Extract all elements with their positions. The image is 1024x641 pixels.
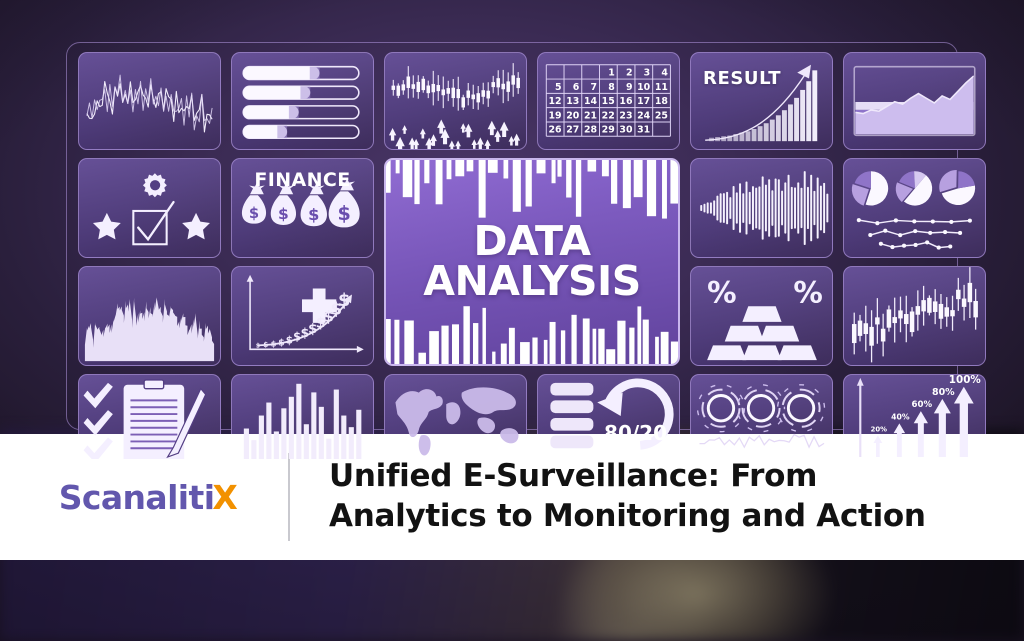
svg-text:31: 31 xyxy=(637,125,650,136)
svg-text:23: 23 xyxy=(619,110,632,121)
svg-text:16: 16 xyxy=(619,96,633,107)
hero-title-line2: ANALYSIS xyxy=(423,262,641,302)
revenue-growth-icon: $$$$$$$$$$$$ xyxy=(232,267,373,365)
svg-text:$: $ xyxy=(338,291,350,311)
svg-text:$: $ xyxy=(278,205,289,223)
svg-text:15: 15 xyxy=(602,96,615,107)
logo-wordmark: Scanaliti xyxy=(59,478,215,517)
progress-bars-icon xyxy=(232,53,373,149)
card-data-analysis-hero: DATA ANALYSIS xyxy=(384,158,680,366)
card-world-map xyxy=(384,374,527,460)
svg-text:$: $ xyxy=(256,343,260,349)
infographic-grid: 1234567891011121314151617181920212223242… xyxy=(78,52,946,436)
svg-text:29: 29 xyxy=(602,125,615,136)
svg-text:100%: 100% xyxy=(949,375,982,386)
waveform-icon xyxy=(691,159,832,257)
svg-text:4: 4 xyxy=(661,68,668,79)
svg-text:21: 21 xyxy=(584,110,597,121)
card-finance: FINANCE $$$$ xyxy=(231,158,374,258)
svg-text:$: $ xyxy=(263,341,268,349)
card-gold-bars: % % xyxy=(690,266,833,366)
svg-text:30: 30 xyxy=(619,125,633,136)
svg-text:60%: 60% xyxy=(912,400,933,410)
svg-text:28: 28 xyxy=(584,125,597,136)
svg-text:13: 13 xyxy=(566,96,579,107)
svg-text:11: 11 xyxy=(655,82,668,93)
svg-text:1: 1 xyxy=(608,68,615,79)
hero-title: DATA ANALYSIS xyxy=(423,222,641,302)
svg-text:6: 6 xyxy=(573,82,580,93)
card-pareto: 80/20 xyxy=(537,374,680,460)
hero-top-bars xyxy=(386,160,678,222)
banner-root: 1234567891011121314151617181920212223242… xyxy=(0,0,1024,641)
card-pie-charts xyxy=(843,158,986,258)
svg-text:80%: 80% xyxy=(932,387,955,398)
svg-text:$: $ xyxy=(308,205,319,224)
pareto-icon xyxy=(538,375,679,459)
candlestick-icon xyxy=(385,53,526,149)
svg-text:10: 10 xyxy=(637,82,651,93)
dials-icon xyxy=(691,375,832,459)
candlestick-large-icon xyxy=(844,267,985,365)
svg-text:3: 3 xyxy=(644,68,651,79)
svg-text:2: 2 xyxy=(626,68,633,79)
svg-text:8: 8 xyxy=(608,82,615,93)
svg-text:20%: 20% xyxy=(871,426,888,434)
card-waveform xyxy=(690,158,833,258)
card-quality-rating xyxy=(78,158,221,258)
card-growth-arrows: 20%40%60%80%100% xyxy=(843,374,986,460)
svg-text:22: 22 xyxy=(602,110,615,121)
card-dials xyxy=(690,374,833,460)
logo-area[interactable]: ScanalitiX xyxy=(0,478,288,517)
svg-text:18: 18 xyxy=(655,96,668,107)
card-candlestick-arrows xyxy=(384,52,527,150)
headline-line-1: Unified E-Surveillance: From xyxy=(329,457,926,497)
logo-x-mark: X xyxy=(212,478,237,517)
svg-text:$: $ xyxy=(286,335,293,346)
bar-cluster-icon xyxy=(232,375,373,459)
area-chart-icon xyxy=(844,53,985,149)
card-revenue-growth: $$$$$$$$$$$$ xyxy=(231,266,374,366)
gold-bars-icon: % % xyxy=(691,267,832,365)
svg-text:$: $ xyxy=(271,340,277,349)
headline-line-2: Analytics to Monitoring and Action xyxy=(329,497,926,537)
svg-text:9: 9 xyxy=(626,82,633,93)
growth-arrows-icon: 20%40%60%80%100% xyxy=(844,375,985,459)
svg-text:40%: 40% xyxy=(891,412,910,421)
card-result-growth: RESULT xyxy=(690,52,833,150)
gear-stars-check-icon xyxy=(79,159,220,257)
brand-logo[interactable]: ScanalitiX xyxy=(59,478,238,517)
svg-text:7: 7 xyxy=(590,82,597,93)
svg-text:20: 20 xyxy=(566,110,580,121)
svg-text:5: 5 xyxy=(555,82,562,93)
headline: Unified E-Surveillance: From Analytics t… xyxy=(290,457,950,536)
svg-text:$: $ xyxy=(249,205,259,222)
svg-text:$: $ xyxy=(338,202,351,225)
card-checklist xyxy=(78,374,221,460)
svg-text:24: 24 xyxy=(637,110,651,121)
result-label: RESULT xyxy=(703,68,781,89)
histogram-icon xyxy=(79,267,220,365)
svg-text:27: 27 xyxy=(566,125,579,136)
hero-bottom-bars xyxy=(386,302,678,364)
svg-text:17: 17 xyxy=(637,96,650,107)
card-candlestick-large xyxy=(843,266,986,366)
card-bar-cluster xyxy=(231,374,374,460)
finance-label: FINANCE xyxy=(232,169,373,191)
svg-text:26: 26 xyxy=(548,125,562,136)
card-line-chart xyxy=(78,52,221,150)
calendar-icon: 1234567891011121314151617181920212223242… xyxy=(538,53,679,149)
card-calendar: 1234567891011121314151617181920212223242… xyxy=(537,52,680,150)
line-chart-icon xyxy=(79,53,220,149)
card-progress-bars xyxy=(231,52,374,150)
card-histogram xyxy=(78,266,221,366)
percent-right: % xyxy=(793,275,822,309)
svg-text:12: 12 xyxy=(548,96,561,107)
pie-charts-icon xyxy=(844,159,985,257)
pareto-label: 80/20 xyxy=(604,421,667,445)
percent-left: % xyxy=(707,275,736,309)
svg-text:14: 14 xyxy=(584,96,598,107)
world-map-icon xyxy=(385,375,526,459)
svg-text:$: $ xyxy=(278,338,284,348)
clipboard-checklist-icon xyxy=(79,375,220,459)
card-area-chart xyxy=(843,52,986,150)
svg-text:19: 19 xyxy=(548,110,561,121)
svg-text:25: 25 xyxy=(655,110,668,121)
